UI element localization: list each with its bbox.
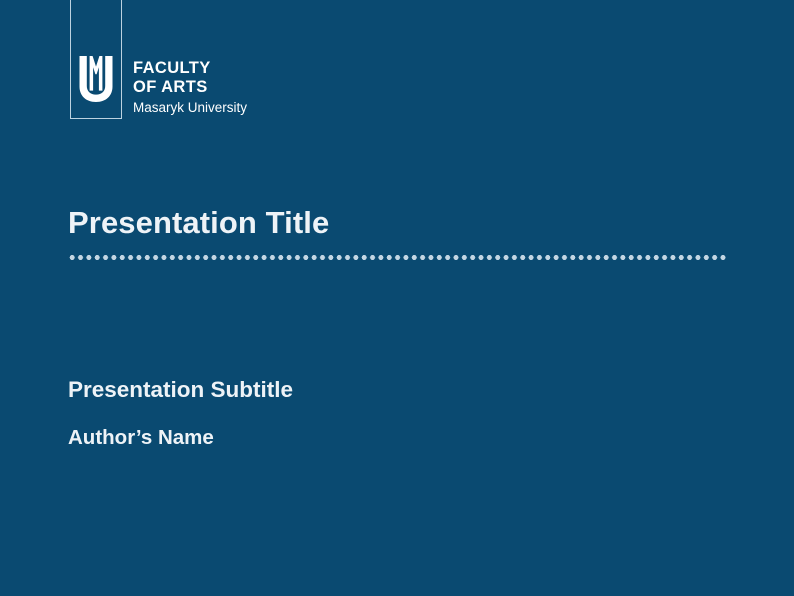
mu-monogram-icon xyxy=(78,56,114,104)
presentation-subtitle: Presentation Subtitle xyxy=(68,374,748,406)
presentation-title-slide: FACULTY OF ARTS Masaryk University Prese… xyxy=(0,0,794,596)
subtitle-area: Presentation Subtitle Author’s Name xyxy=(68,374,748,452)
author-name: Author’s Name xyxy=(68,423,748,452)
logo-wordmark-line2: OF ARTS xyxy=(133,78,363,97)
logo-institution-name: Masaryk University xyxy=(133,98,363,117)
presentation-title: Presentation Title xyxy=(68,201,748,245)
logo-wordmark-line1: FACULTY xyxy=(133,59,363,78)
faculty-logo: FACULTY OF ARTS Masaryk University xyxy=(68,0,368,125)
title-area: Presentation Title xyxy=(68,201,748,260)
logo-wordmark: FACULTY OF ARTS Masaryk University xyxy=(133,59,363,117)
dotted-divider xyxy=(68,255,728,260)
